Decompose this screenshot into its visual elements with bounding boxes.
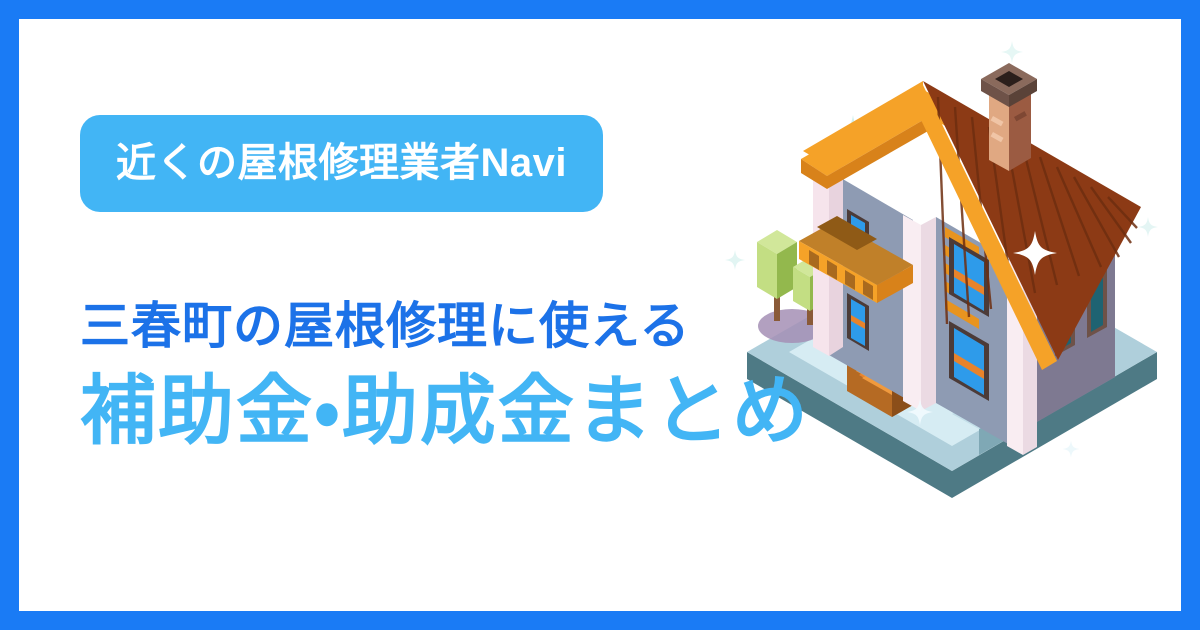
sparkle-platform-small bbox=[1063, 441, 1080, 458]
sparkle-far-right-cyan bbox=[1138, 217, 1158, 237]
page-title: 三春町の屋根修理に使える 補助金・助成金まとめ bbox=[80, 298, 900, 454]
sparkle-platform-white bbox=[907, 399, 933, 425]
house-right-facade bbox=[936, 217, 1037, 455]
chimney bbox=[981, 55, 1037, 171]
siding-strips bbox=[945, 227, 979, 329]
sparkle-roof-white bbox=[1013, 231, 1057, 275]
headline-line-1: 三春町の屋根修理に使える bbox=[80, 298, 900, 354]
og-image-card: 近くの屋根修理業者Navi 三春町の屋根修理に使える 補助金・助成金まとめ bbox=[0, 0, 1200, 630]
sparkle-upper-right-cyan bbox=[1001, 41, 1023, 63]
text-column: 近くの屋根修理業者Navi 三春町の屋根修理に使える 補助金・助成金まとめ bbox=[80, 115, 900, 454]
house-right-side-wall bbox=[1037, 215, 1115, 422]
brand-badge: 近くの屋根修理業者Navi bbox=[80, 115, 603, 212]
card-inner-surface: 近くの屋根修理業者Navi 三春町の屋根修理に使える 補助金・助成金まとめ bbox=[19, 19, 1181, 611]
headline-line-2: 補助金・助成金まとめ bbox=[80, 370, 900, 454]
